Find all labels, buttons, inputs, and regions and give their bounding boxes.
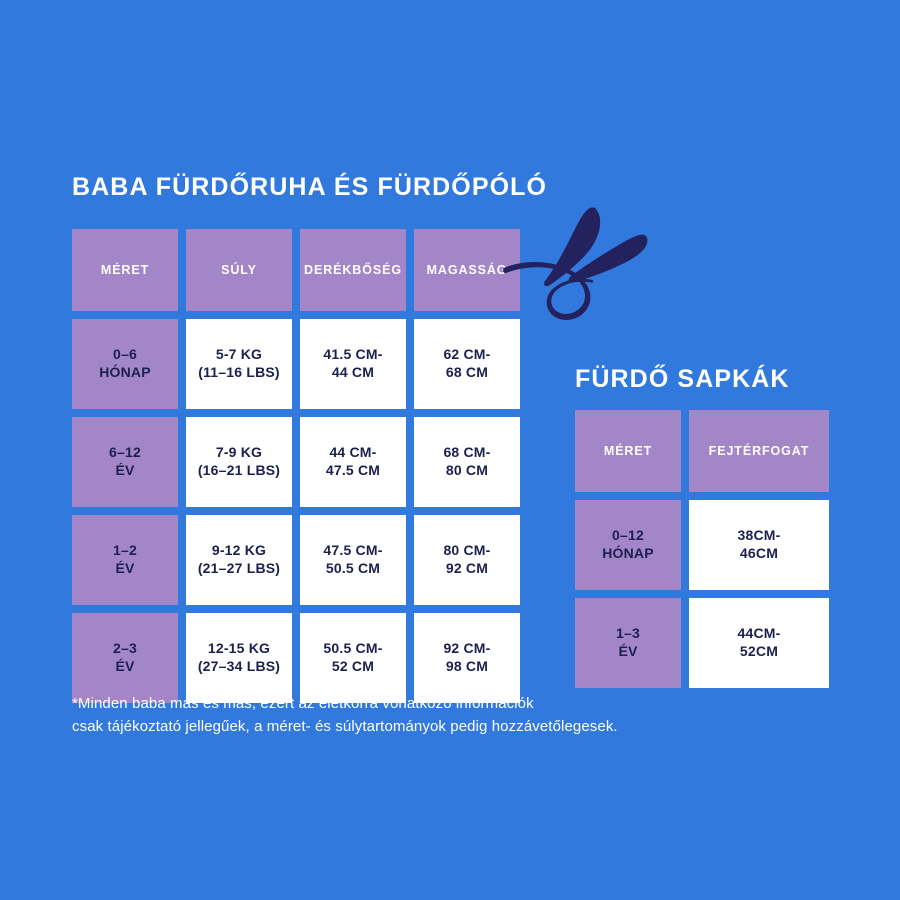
table-row-weight-cell: 9-12 KG (21–27 LBS) xyxy=(186,515,292,605)
cell-text: 44 CM xyxy=(323,364,382,382)
cell-text: 47.5 CM- xyxy=(323,542,382,560)
table-row-waist-cell: 44 CM- 47.5 CM xyxy=(300,417,406,507)
column-header-weight: SÚLY xyxy=(186,229,292,311)
table-row-size-cell: 1–3 ÉV xyxy=(575,598,681,688)
cell-text: 7-9 KG xyxy=(198,444,280,462)
footnote: *Minden baba más és más, ezért az életko… xyxy=(72,692,752,739)
cell-text: 68 CM xyxy=(443,364,490,382)
cell-text: 80 CM- xyxy=(443,542,490,560)
column-header-size: MÉRET xyxy=(72,229,178,311)
cell-text: 12-15 KG xyxy=(198,640,280,658)
cell-text: HÓNAP xyxy=(602,545,654,563)
cell-text: 80 CM xyxy=(443,462,490,480)
cell-text: 41.5 CM- xyxy=(323,346,382,364)
cell-text: 52 CM xyxy=(323,658,382,676)
cell-text: 62 CM- xyxy=(443,346,490,364)
table-row-weight-cell: 12-15 KG (27–34 LBS) xyxy=(186,613,292,703)
table-row-size-cell: 0–6 HÓNAP xyxy=(72,319,178,409)
table-row-weight-cell: 7-9 KG (16–21 LBS) xyxy=(186,417,292,507)
cell-text: 0–6 xyxy=(99,346,151,364)
cell-text: ÉV xyxy=(109,462,141,480)
bathwear-section-title: BABA FÜRDŐRUHA ÉS FÜRDŐPÓLÓ xyxy=(72,175,547,200)
table-row-waist-cell: 50.5 CM- 52 CM xyxy=(300,613,406,703)
footnote-line-1: *Minden baba más és más, ezért az életko… xyxy=(72,692,752,715)
cell-text: 1–2 xyxy=(113,542,137,560)
cell-text: (21–27 LBS) xyxy=(198,560,280,578)
table-row-size-cell: 1–2 ÉV xyxy=(72,515,178,605)
column-header-head-circumference-label: FEJTÉRFOGAT xyxy=(709,443,810,459)
column-header-height: MAGASSÁG xyxy=(414,229,520,311)
cell-text: (27–34 LBS) xyxy=(198,658,280,676)
cell-text: 44CM- xyxy=(737,625,780,643)
cell-text: 92 CM xyxy=(443,560,490,578)
table-row-waist-cell: 47.5 CM- 50.5 CM xyxy=(300,515,406,605)
table-row-size-cell: 0–12 HÓNAP xyxy=(575,500,681,590)
cell-text: 5-7 KG xyxy=(198,346,280,364)
table-row-height-cell: 68 CM- 80 CM xyxy=(414,417,520,507)
bathwear-size-table: MÉRET SÚLY DERÉKBŐSÉG MAGASSÁG 0–6 HÓNAP… xyxy=(72,229,520,703)
column-header-waist-label: DERÉKBŐSÉG xyxy=(304,262,402,278)
cell-text: 98 CM xyxy=(443,658,490,676)
cell-text: (16–21 LBS) xyxy=(198,462,280,480)
cell-text: ÉV xyxy=(113,560,137,578)
column-header-cap-size-label: MÉRET xyxy=(604,443,652,459)
cell-text: 2–3 xyxy=(113,640,137,658)
table-row-height-cell: 62 CM- 68 CM xyxy=(414,319,520,409)
water-splash-icon xyxy=(500,190,650,340)
table-row-circumference-cell: 38CM- 46CM xyxy=(689,500,829,590)
cell-text: 44 CM- xyxy=(326,444,380,462)
cell-text: HÓNAP xyxy=(99,364,151,382)
cell-text: 46CM xyxy=(737,545,780,563)
size-chart-canvas: BABA FÜRDŐRUHA ÉS FÜRDŐPÓLÓ MÉRET SÚLY D… xyxy=(0,0,900,900)
cell-text: 47.5 CM xyxy=(326,462,380,480)
table-row-weight-cell: 5-7 KG (11–16 LBS) xyxy=(186,319,292,409)
column-header-size-label: MÉRET xyxy=(101,262,149,278)
column-header-head-circumference: FEJTÉRFOGAT xyxy=(689,410,829,492)
cell-text: 68 CM- xyxy=(443,444,490,462)
column-header-weight-label: SÚLY xyxy=(221,262,257,278)
cell-text: (11–16 LBS) xyxy=(198,364,280,382)
table-row-waist-cell: 41.5 CM- 44 CM xyxy=(300,319,406,409)
cell-text: 38CM- xyxy=(737,527,780,545)
cell-text: 6–12 xyxy=(109,444,141,462)
cell-text: 1–3 xyxy=(616,625,640,643)
cell-text: 50.5 CM- xyxy=(323,640,382,658)
table-row-size-cell: 2–3 ÉV xyxy=(72,613,178,703)
column-header-cap-size: MÉRET xyxy=(575,410,681,492)
column-header-waist: DERÉKBŐSÉG xyxy=(300,229,406,311)
cell-text: 9-12 KG xyxy=(198,542,280,560)
cell-text: 50.5 CM xyxy=(323,560,382,578)
table-row-size-cell: 6–12 ÉV xyxy=(72,417,178,507)
swim-caps-size-table: MÉRET FEJTÉRFOGAT 0–12 HÓNAP 38CM- 46CM … xyxy=(575,410,829,688)
cell-text: ÉV xyxy=(616,643,640,661)
table-row-height-cell: 92 CM- 98 CM xyxy=(414,613,520,703)
footnote-line-2: csak tájékoztató jellegűek, a méret- és … xyxy=(72,715,752,738)
column-header-height-label: MAGASSÁG xyxy=(427,262,508,278)
cell-text: 52CM xyxy=(737,643,780,661)
cell-text: 0–12 xyxy=(602,527,654,545)
table-row-circumference-cell: 44CM- 52CM xyxy=(689,598,829,688)
table-row-height-cell: 80 CM- 92 CM xyxy=(414,515,520,605)
caps-section-title: FÜRDŐ SAPKÁK xyxy=(575,367,790,392)
cell-text: ÉV xyxy=(113,658,137,676)
cell-text: 92 CM- xyxy=(443,640,490,658)
